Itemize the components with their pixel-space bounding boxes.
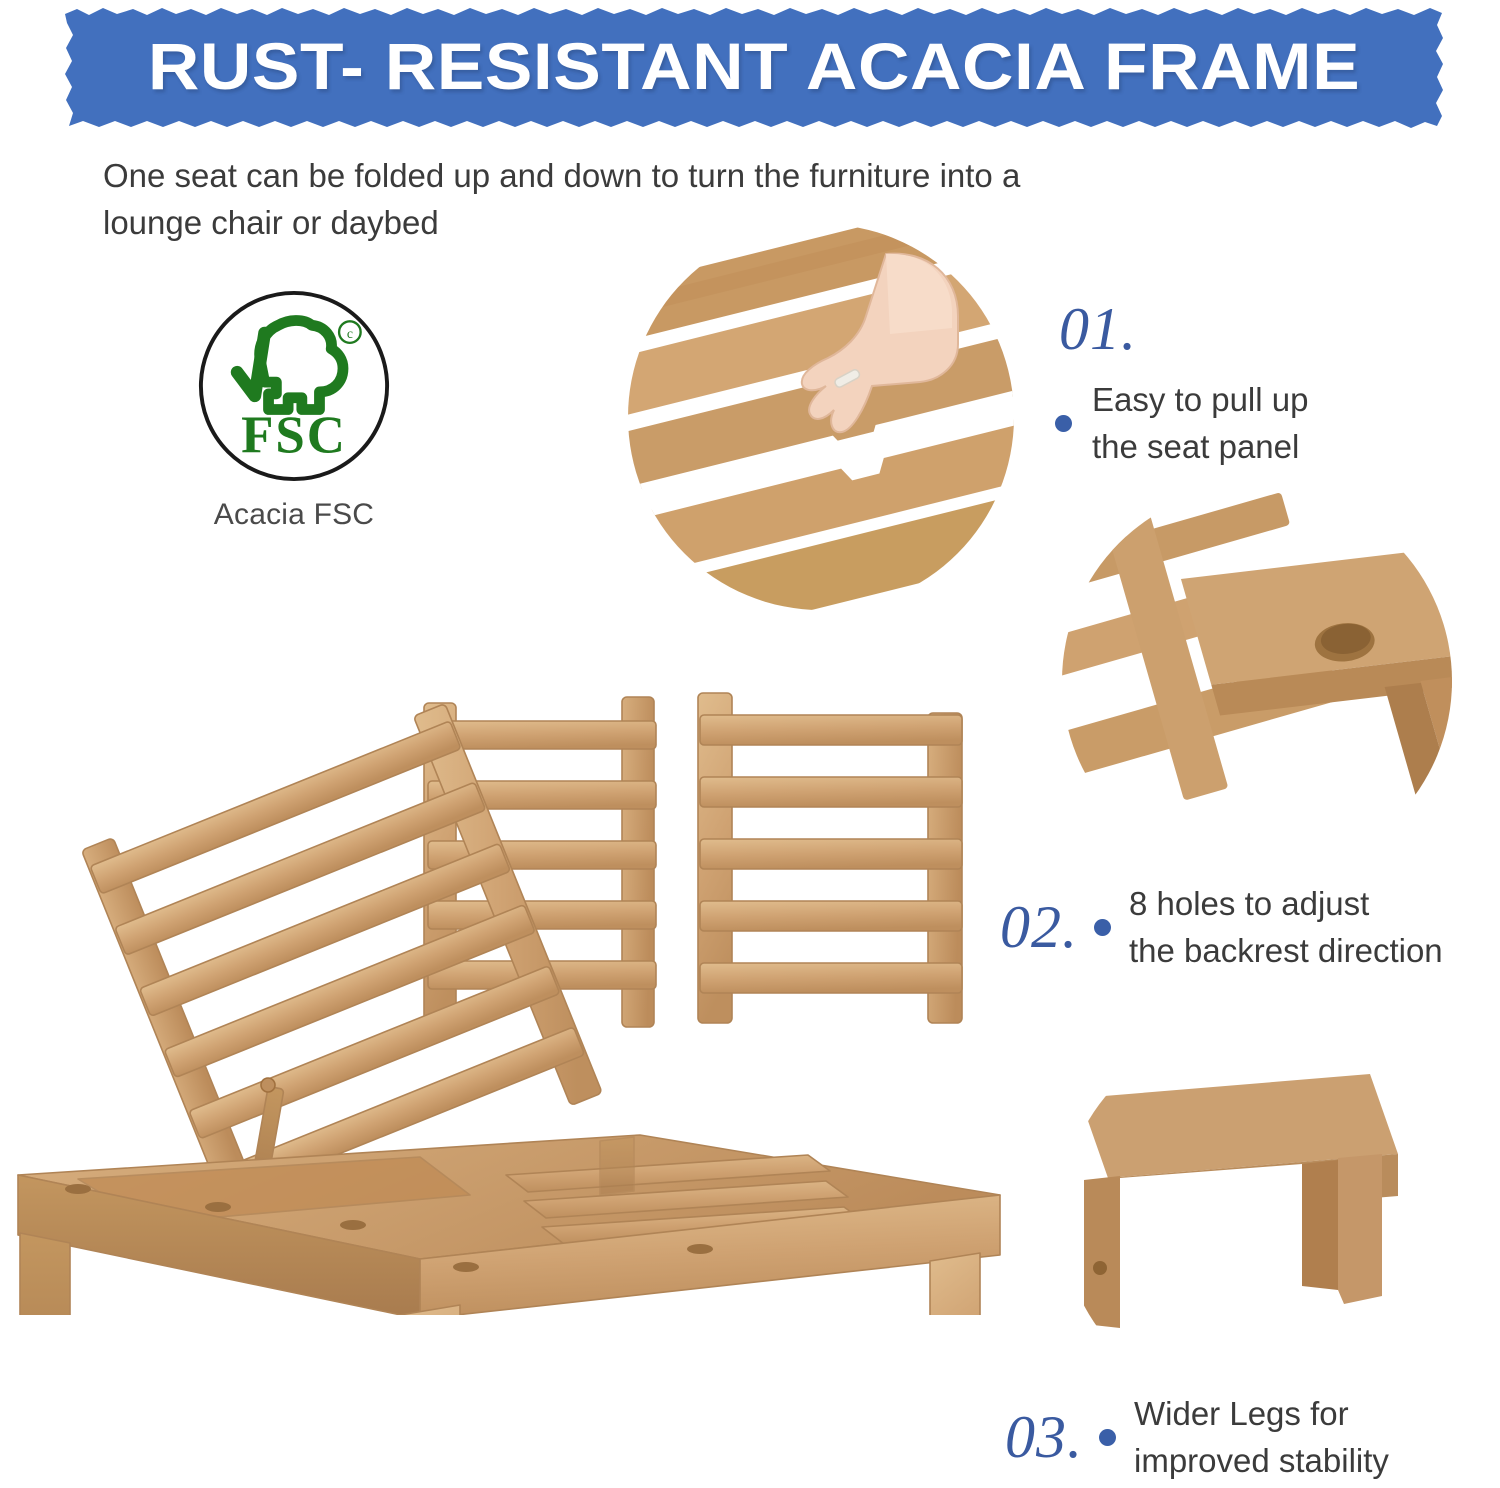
feature-text-2-line2: the backrest direction [1129,927,1443,974]
headline-banner: RUST- RESISTANT ACACIA FRAME [63,5,1445,131]
hand-lifting-seat-panel-photo [628,224,1014,610]
bullet-dot-3 [1099,1429,1116,1446]
feature-number-1: 01. [1059,295,1485,364]
fsc-tree-checkmark-icon: c FSC [196,288,392,484]
feature-callout-3: 03. Wider Legs for improved stability [1005,1390,1500,1484]
wide-leg-detail-photo [1062,1028,1440,1406]
fsc-certification-badge: c FSC Acacia FSC [186,288,402,532]
feature-text-2-line1: 8 holes to adjust [1129,880,1443,927]
feature-callout-1: 01. Easy to pull up the seat panel [1055,295,1485,470]
feature-text-3-line2: improved stability [1134,1437,1389,1484]
feature-text-1: Easy to pull up the seat panel [1092,376,1308,470]
banner-title: RUST- RESISTANT ACACIA FRAME [8,5,1500,131]
feature-number-2: 02. [1000,893,1078,962]
feature-text-3-line1: Wider Legs for [1134,1390,1389,1437]
infographic-page: RUST- RESISTANT ACACIA FRAME One seat ca… [0,0,1500,1488]
svg-text:c: c [347,326,353,341]
feature-callout-2: 02. 8 holes to adjust the backrest direc… [1000,880,1500,974]
feature-photo-2 [1062,486,1452,876]
feature-photo-1 [628,224,1014,610]
hero-product-illustration [0,655,1020,1315]
feature-number-3: 03. [1005,1403,1083,1472]
feature-text-1-line1: Easy to pull up [1092,376,1308,423]
bullet-dot-2 [1094,919,1111,936]
feature-text-1-line2: the seat panel [1092,423,1308,470]
feature-text-2: 8 holes to adjust the backrest direction [1129,880,1443,974]
backrest-adjustment-hole-photo [1062,486,1452,876]
feature-text-3: Wider Legs for improved stability [1134,1390,1389,1484]
subtitle-text: One seat can be folded up and down to tu… [103,152,1083,246]
fsc-label: Acacia FSC [186,498,402,532]
feature-photo-3 [1062,1028,1440,1406]
bullet-dot-1 [1055,415,1072,432]
svg-text:FSC: FSC [241,407,347,465]
